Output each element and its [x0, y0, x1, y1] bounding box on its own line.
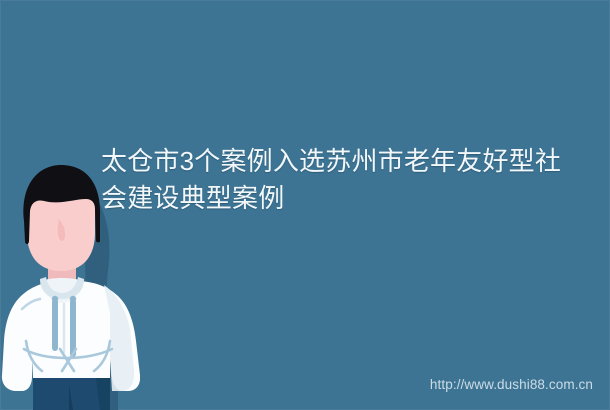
page-title: 太仓市3个案例入选苏州市老年友好型社会建设典型案例: [101, 143, 571, 217]
site-url-watermark: http://www.dushi88.com.cn: [430, 377, 593, 392]
article-cover-banner: 太仓市3个案例入选苏州市老年友好型社会建设典型案例 http://www.dus…: [0, 0, 610, 410]
pants-shape: [33, 378, 110, 410]
